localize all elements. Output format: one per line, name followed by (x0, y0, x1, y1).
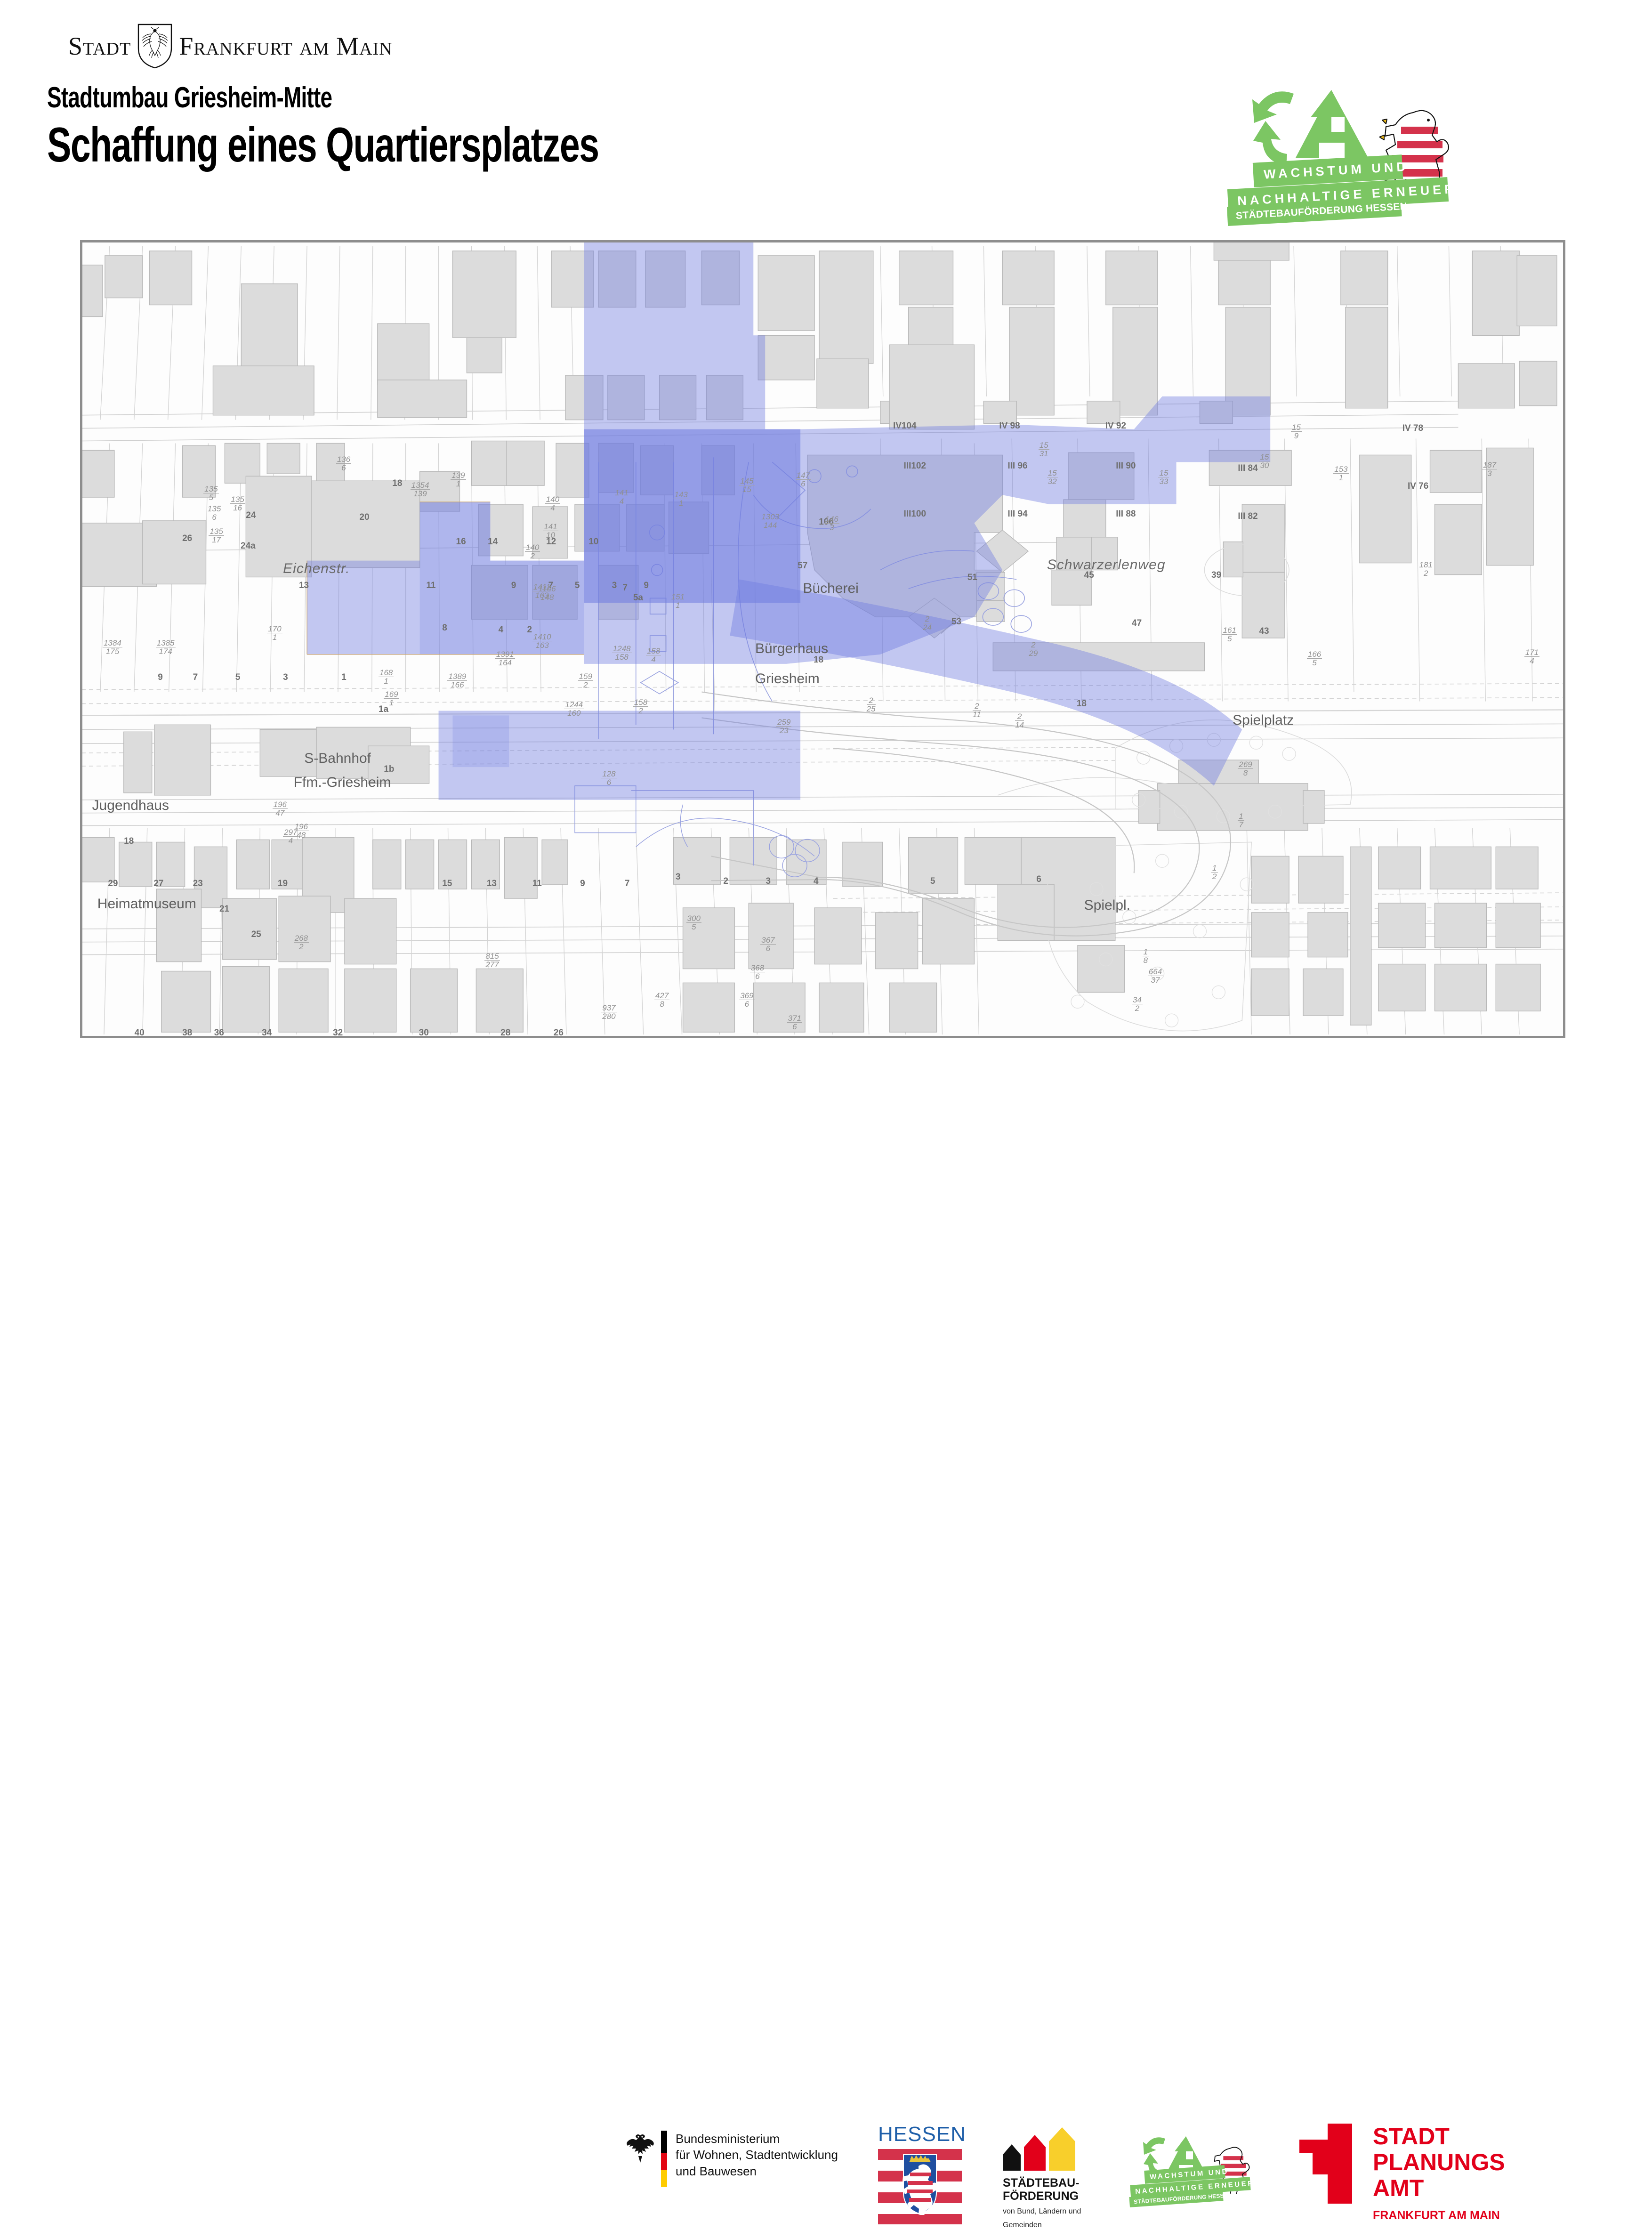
german-flag-bar-icon (661, 2131, 667, 2187)
stadtplanungsamt-mark-icon (1299, 2124, 1352, 2204)
bmwsb-line1: Bundesministerium (676, 2131, 838, 2147)
page-title: Schaffung eines Quartiersplatzes (47, 120, 599, 171)
cadastral-map[interactable]: Eichenstr.SchwarzerlenwegErzbergerstr.Am… (80, 240, 1565, 1038)
frankfurt-eagle-crest-icon (137, 24, 173, 69)
page-subtitle: Stadtumbau Griesheim-Mitte (47, 82, 599, 113)
three-houses-icon (1003, 2127, 1120, 2171)
spa-subline: FRANKFURT AM MAIN (1373, 2209, 1505, 2222)
city-of-frankfurt-logo: Stadt Frankfurt am Main (68, 23, 393, 70)
hessen-label: HESSEN (878, 2123, 963, 2146)
footer-logo-strip: Bundesministerium für Wohnen, Stadtentwi… (0, 1055, 1652, 1168)
bundesadler-icon (626, 2133, 654, 2165)
bmwsb-text: Bundesministerium für Wohnen, Stadtentwi… (676, 2131, 838, 2179)
staedtebau-sub2: Gemeinden (1003, 2221, 1120, 2230)
program-logo: WACHSTUM UND NACHHALTIGE ERNEUERUNG STÄD… (1224, 87, 1554, 266)
spa-line3: AMT (1373, 2175, 1505, 2201)
staedtebau-title1: STÄDTEBAU- (1003, 2176, 1120, 2190)
staedtebaufoerderung-logo: STÄDTEBAU- FÖRDERUNG von Bund, Ländern u… (1003, 2127, 1120, 2230)
page-header: Stadt Frankfurt am Main Stadtumbau Gries… (0, 0, 1652, 217)
program-logo-footer: WACHSTUM UND NACHHALTIGE ERNEUERUNG STÄD… (1128, 2133, 1283, 2218)
hessen-logo: HESSEN (878, 2123, 963, 2224)
bmwsb-line2: für Wohnen, Stadtentwicklung (676, 2147, 838, 2163)
map-drawing (81, 242, 1564, 1037)
spa-line2: PLANUNGS (1373, 2149, 1505, 2175)
staedtebau-title2: FÖRDERUNG (1003, 2190, 1120, 2203)
title-block: Stadtumbau Griesheim-Mitte Schaffung ein… (47, 82, 792, 171)
city-logo-text-right: Frankfurt am Main (179, 32, 392, 61)
bmwsb-logo: Bundesministerium für Wohnen, Stadtentwi… (626, 2131, 838, 2187)
hessen-shield-icon (903, 2154, 937, 2215)
stadtplanungsamt-text: STADT PLANUNGS AMT FRANKFURT AM MAIN (1373, 2124, 1505, 2222)
spa-line1: STADT (1373, 2124, 1505, 2149)
hessen-flag-icon (878, 2149, 962, 2224)
bmwsb-line3: und Bauwesen (676, 2163, 838, 2179)
city-logo-text-left: Stadt (68, 32, 131, 61)
staedtebau-sub1: von Bund, Ländern und (1003, 2207, 1120, 2216)
stadtplanungsamt-logo: STADT PLANUNGS AMT FRANKFURT AM MAIN (1299, 2124, 1505, 2222)
